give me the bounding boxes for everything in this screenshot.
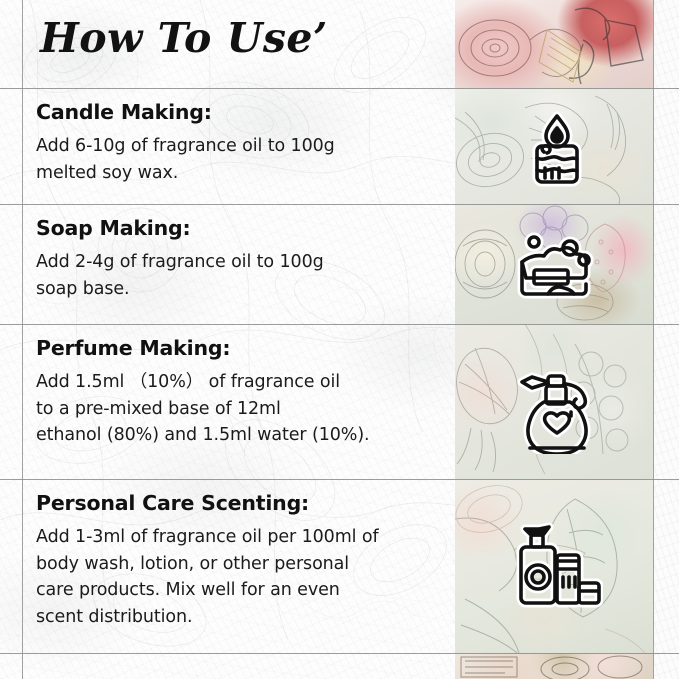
body-line: Add 2-4g of fragrance oil to 100g	[36, 249, 446, 276]
page-title: How To Use’	[40, 14, 328, 62]
how-to-use-infographic: How To Use’ Candle Making: Add 6-10g of …	[0, 0, 679, 679]
text-column: How To Use’ Candle Making: Add 6-10g of …	[0, 0, 455, 679]
body-line: Add 1.5ml （10%） of fragrance oil	[36, 369, 446, 396]
body-line: melted soy wax.	[36, 160, 446, 187]
book-and-roses-sketch-icon	[455, 653, 653, 679]
soap-bar-icon	[514, 228, 600, 302]
body-line: care products. Mix well for an even	[36, 577, 446, 604]
section-perfume-making: Perfume Making: Add 1.5ml （10%） of fragr…	[36, 336, 446, 449]
section-candle-making: Candle Making: Add 6-10g of fragrance oi…	[36, 100, 446, 186]
section-personal-care-scenting: Personal Care Scenting: Add 1-3ml of fra…	[36, 491, 446, 630]
body-line: Add 1-3ml of fragrance oil per 100ml of	[36, 524, 446, 551]
section-heading-candle-making: Candle Making:	[36, 100, 446, 124]
body-line: body wash, lotion, or other personal	[36, 551, 446, 578]
section-heading-soap-making: Soap Making:	[36, 216, 446, 240]
right-edge-strip	[653, 0, 679, 679]
section-soap-making: Soap Making: Add 2-4g of fragrance oil t…	[36, 216, 446, 302]
body-line: Add 6-10g of fragrance oil to 100g	[36, 133, 446, 160]
personal-care-products-icon	[511, 521, 603, 611]
body-line: ethanol (80%) and 1.5ml water (10%).	[36, 422, 446, 449]
candle-icon	[520, 110, 594, 188]
soap-bar-icon-glyph	[514, 228, 600, 302]
personal-care-products-icon-glyph	[511, 521, 603, 611]
section-body-candle-making: Add 6-10g of fragrance oil to 100g melte…	[36, 133, 446, 186]
section-body-soap-making: Add 2-4g of fragrance oil to 100g soap b…	[36, 249, 446, 302]
roses-and-book-photo	[455, 653, 653, 679]
roses-and-tag-photo	[455, 0, 653, 88]
section-heading-perfume-making: Perfume Making:	[36, 336, 446, 360]
rose-sketch-icon	[455, 0, 653, 88]
perfume-bottle-icon-glyph	[510, 368, 604, 454]
section-body-personal-care-scenting: Add 1-3ml of fragrance oil per 100ml of …	[36, 524, 446, 630]
perfume-bottle-icon	[510, 368, 604, 454]
section-body-perfume-making: Add 1.5ml （10%） of fragrance oil to a pr…	[36, 369, 446, 449]
body-line: soap base.	[36, 276, 446, 303]
section-heading-personal-care-scenting: Personal Care Scenting:	[36, 491, 446, 515]
body-line: to a pre-mixed base of 12ml	[36, 396, 446, 423]
candle-icon-glyph	[520, 110, 594, 188]
body-line: scent distribution.	[36, 604, 446, 631]
right-margin-rule	[653, 0, 654, 679]
